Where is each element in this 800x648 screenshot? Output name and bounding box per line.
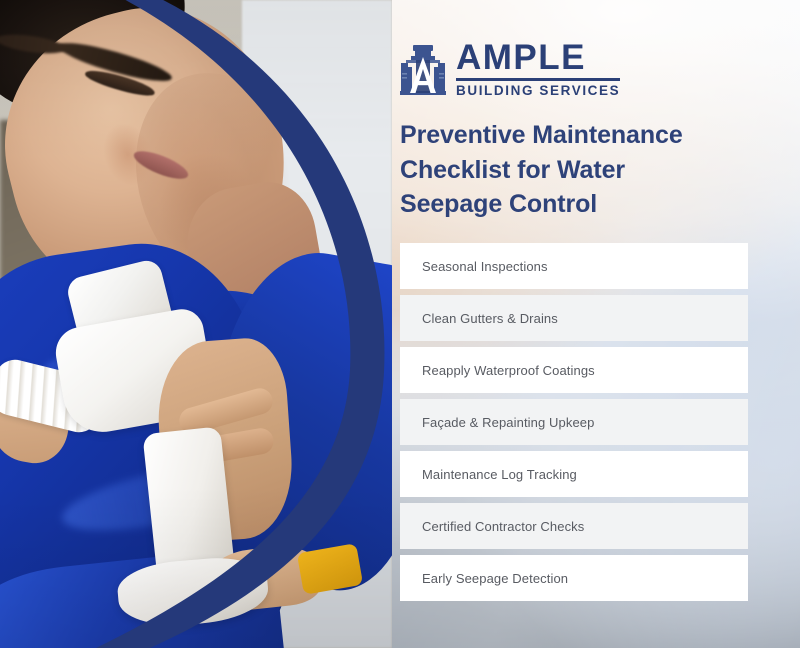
- list-item[interactable]: Early Seepage Detection: [400, 555, 748, 601]
- list-item-label: Seasonal Inspections: [422, 259, 548, 274]
- page-title-line-2: Checklist for Water: [400, 153, 730, 188]
- list-item[interactable]: Seasonal Inspections: [400, 243, 748, 289]
- brand-tagline: BUILDING SERVICES: [456, 84, 620, 98]
- poster-canvas: AMPLE BUILDING SERVICES Preventive Maint…: [0, 0, 800, 648]
- page-title-line-1: Preventive Maintenance: [400, 118, 730, 153]
- checklist: Seasonal Inspections Clean Gutters & Dra…: [400, 243, 748, 601]
- list-item-label: Maintenance Log Tracking: [422, 467, 577, 482]
- list-item-label: Early Seepage Detection: [422, 571, 568, 586]
- logo-divider: [456, 78, 620, 81]
- list-item-label: Reapply Waterproof Coatings: [422, 363, 595, 378]
- page-title-line-3: Seepage Control: [400, 187, 730, 222]
- list-item-label: Certified Contractor Checks: [422, 519, 584, 534]
- list-item-label: Clean Gutters & Drains: [422, 311, 558, 326]
- list-item[interactable]: Reapply Waterproof Coatings: [400, 347, 748, 393]
- building-tower-a-logo-icon: [400, 43, 446, 95]
- content-column: AMPLE BUILDING SERVICES Preventive Maint…: [400, 0, 800, 648]
- list-item[interactable]: Façade & Repainting Upkeep: [400, 399, 748, 445]
- list-item-label: Façade & Repainting Upkeep: [422, 415, 594, 430]
- list-item[interactable]: Certified Contractor Checks: [400, 503, 748, 549]
- page-title: Preventive Maintenance Checklist for Wat…: [400, 118, 730, 222]
- technician-photo: [0, 0, 392, 648]
- list-item[interactable]: Clean Gutters & Drains: [400, 295, 748, 341]
- list-item[interactable]: Maintenance Log Tracking: [400, 451, 748, 497]
- brand-logo: AMPLE BUILDING SERVICES: [400, 40, 620, 98]
- brand-name: AMPLE: [456, 40, 620, 75]
